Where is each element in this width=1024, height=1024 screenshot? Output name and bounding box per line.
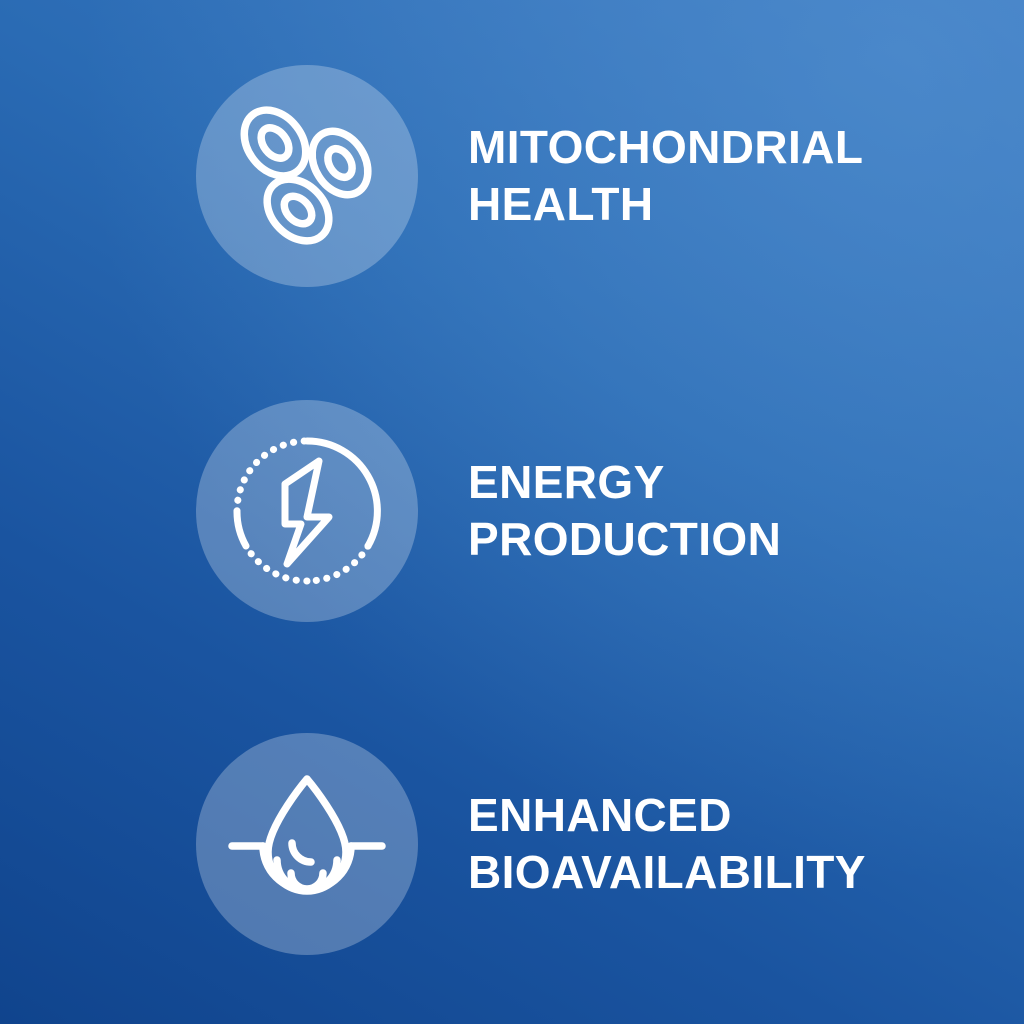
- benefit-item-enhanced-bioavailability: ENHANCED BIOAVAILABILITY: [0, 733, 1024, 955]
- benefit-label-energy-production: ENERGY PRODUCTION: [468, 454, 781, 568]
- benefit-item-energy-production: ENERGY PRODUCTION: [0, 400, 1024, 622]
- benefit-label-mitochondrial-health: MITOCHONDRIAL HEALTH: [468, 119, 863, 233]
- lightning-bolt-circle-icon: [223, 427, 391, 595]
- benefits-list: MITOCHONDRIAL HEALTH: [0, 0, 1024, 1024]
- icon-badge-enhanced-bioavailability: [196, 733, 418, 955]
- icon-badge-energy-production: [196, 400, 418, 622]
- benefit-item-mitochondrial-health: MITOCHONDRIAL HEALTH: [0, 65, 1024, 287]
- benefit-label-enhanced-bioavailability: ENHANCED BIOAVAILABILITY: [468, 787, 866, 901]
- icon-badge-mitochondrial-health: [196, 65, 418, 287]
- mitochondria-icon: [227, 96, 387, 256]
- water-droplet-ripple-icon: [222, 759, 392, 929]
